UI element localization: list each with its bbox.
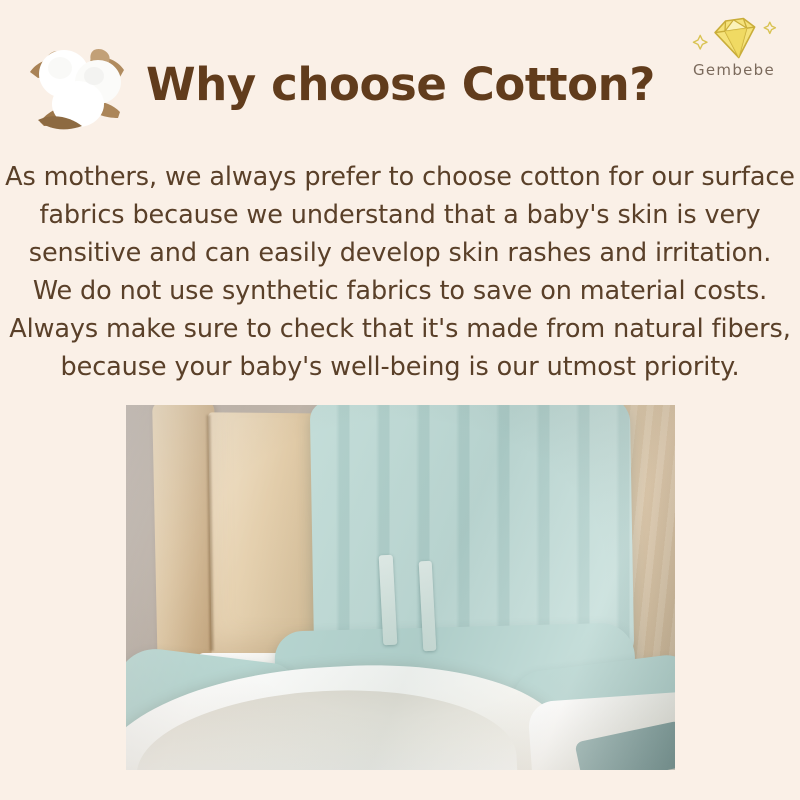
cotton-boll-illustration [24, 26, 142, 142]
copy-line-1: As mothers, we always prefer to choose c… [0, 158, 800, 196]
gem-diamond-icon [682, 16, 786, 60]
page-title: Why choose Cotton? [146, 58, 655, 112]
brand-name: Gembebe [682, 61, 786, 79]
poster-canvas: Why choose Cotton? Gembebe [0, 0, 800, 800]
header-section: Why choose Cotton? Gembebe [0, 0, 800, 150]
copy-line-3: sensitive and can easily develop skin ra… [0, 234, 800, 272]
brand-logo: Gembebe [682, 16, 786, 79]
copy-line-5: Always make sure to check that it's made… [0, 310, 800, 348]
baby-high-chair-cushion-photo [126, 405, 675, 770]
body-copy: As mothers, we always prefer to choose c… [0, 158, 800, 386]
copy-line-2: fabrics because we understand that a bab… [0, 196, 800, 234]
copy-line-4: We do not use synthetic fabrics to save … [0, 272, 800, 310]
photo-vignette [126, 405, 675, 770]
copy-line-6: because your baby's well-being is our ut… [0, 348, 800, 386]
